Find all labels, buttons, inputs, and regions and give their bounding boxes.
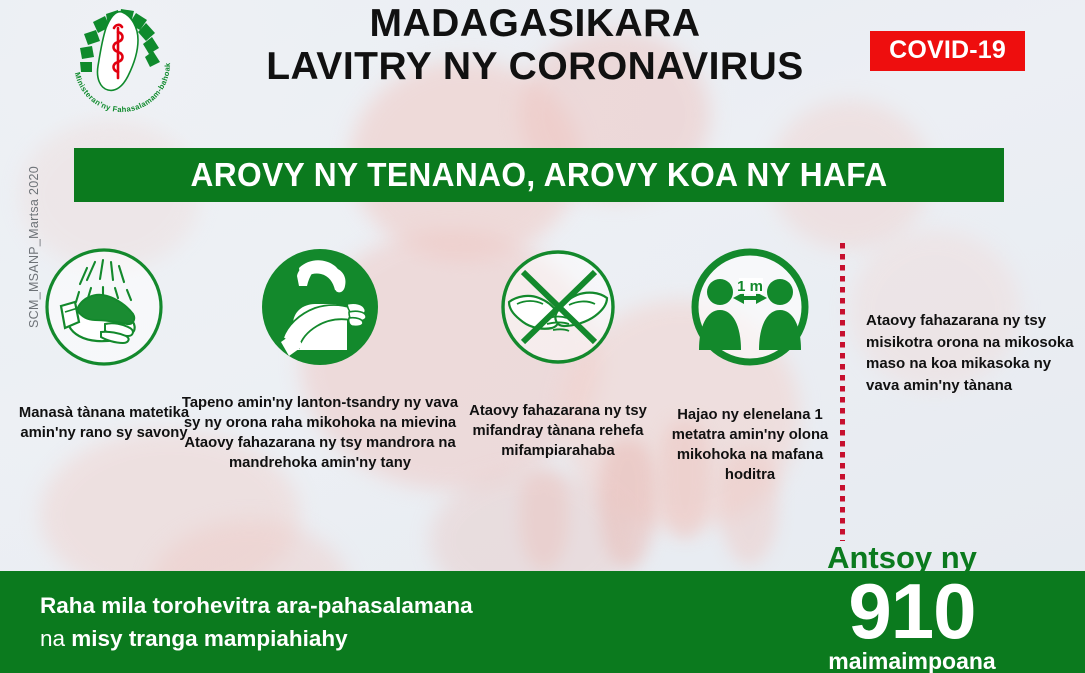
footer-line-2-bold: misy tranga mampiahiahy	[71, 626, 347, 651]
measure-item-distance: 1 m Hajao ny elenelana 1 metatra amin'ny…	[655, 240, 845, 485]
social-distance-1m-icon: 1 m	[655, 246, 845, 373]
no-handshake-icon	[452, 246, 664, 373]
hotline-number: 910	[787, 572, 1037, 650]
status-badge-covid19: COVID-19	[870, 31, 1025, 71]
measure-item-cough-elbow: Tapeno amin'ny lanton-tsandry ny vava sy…	[176, 240, 464, 473]
title-line-1: MADAGASIKARA	[370, 2, 701, 45]
measure-caption: Hajao ny elenelana 1 metatra amin'ny olo…	[655, 405, 845, 485]
footer-line-2-lite: na	[40, 626, 71, 651]
measure-caption: Manasà tànana matetika amin'ny rano sy s…	[8, 403, 200, 443]
measure-item-no-handshake: Ataovy fahazarana ny tsy mifandray tànan…	[452, 240, 664, 461]
measure-caption: Tapeno amin'ny lanton-tsandry ny vava sy…	[176, 393, 464, 473]
ministry-of-health-madagascar-logo: Ministeran'ny Fahasalamam-bahoaka	[60, 6, 185, 114]
slogan-banner-text: AROVY NY TENANAO, AROVY KOA NY HAFA	[190, 156, 887, 194]
hotline-free-label: maimaimpoana	[787, 649, 1037, 673]
measure-item-wash-hands: Manasà tànana matetika amin'ny rano sy s…	[8, 240, 200, 443]
washing-hands-icon	[8, 246, 200, 373]
footer-advice-text: Raha mila torohevitra ara-pahasalamana n…	[40, 589, 680, 655]
footer-line-1: Raha mila torohevitra ara-pahasalamana	[40, 593, 473, 618]
infographic-poster: SCM_MSANP_Martsa 2020	[0, 0, 1085, 673]
measure-caption: Ataovy fahazarana ny tsy mifandray tànan…	[452, 401, 664, 461]
page-title: MADAGASIKARA LAVITRY NY CORONAVIRUS	[215, 2, 855, 88]
distance-label: 1 m	[737, 278, 763, 295]
dotted-divider	[840, 243, 845, 541]
side-note-text: Ataovy fahazarana ny tsy misikotra orona…	[866, 310, 1081, 396]
title-line-2: LAVITRY NY CORONAVIRUS	[215, 45, 855, 88]
cough-into-elbow-icon	[176, 246, 464, 373]
slogan-banner: AROVY NY TENANAO, AROVY KOA NY HAFA	[74, 148, 1004, 202]
